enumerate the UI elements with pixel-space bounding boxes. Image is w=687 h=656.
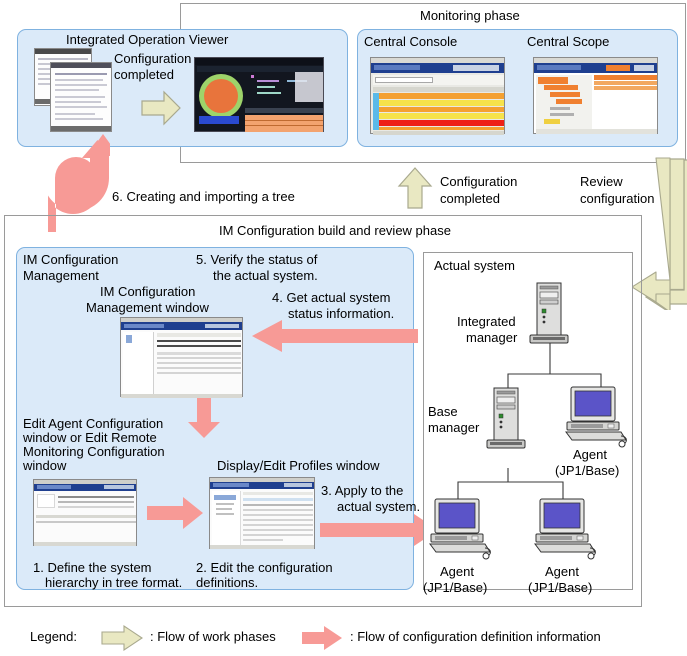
review-configuration-line1: Review bbox=[580, 175, 623, 189]
agent-bottom-right-icon bbox=[533, 498, 601, 560]
central-console-screenshot bbox=[370, 57, 505, 134]
viewer-flow-label-line1: Configuration bbox=[114, 52, 191, 66]
legend-config-info-arrow-icon bbox=[300, 624, 344, 652]
im-config-mgmt-window-line2: Management window bbox=[86, 301, 209, 315]
step6-label: 6. Creating and importing a tree bbox=[112, 190, 295, 204]
monitoring-phase-title: Monitoring phase bbox=[420, 9, 520, 23]
agent-right-line2: (JP1/Base) bbox=[555, 464, 619, 478]
base-manager-icon bbox=[485, 386, 527, 452]
legend-config-info-text: : Flow of configuration definition infor… bbox=[350, 630, 601, 644]
step1-line1: 1. Define the system bbox=[33, 561, 152, 575]
step1-to-step2-arrow-icon bbox=[145, 495, 205, 531]
agent-right-icon bbox=[564, 386, 632, 448]
central-scope-label: Central Scope bbox=[527, 35, 609, 49]
legend-label: Legend: bbox=[30, 630, 77, 644]
base-manager-line2: manager bbox=[428, 421, 479, 435]
agent-bottom-left-line1: Agent bbox=[440, 565, 474, 579]
edit-window-line3: Monitoring Configuration bbox=[23, 445, 165, 459]
integrated-manager-icon bbox=[528, 281, 570, 347]
config-completed-arrow-icon bbox=[397, 166, 433, 210]
edit-window-line4: window bbox=[23, 459, 66, 473]
step3-line1: 3. Apply to the bbox=[321, 484, 403, 498]
im-config-down-arrow-icon bbox=[186, 396, 222, 440]
central-console-label: Central Console bbox=[364, 35, 457, 49]
step3-arrow-icon bbox=[318, 512, 440, 548]
integrated-manager-line1: Integrated bbox=[457, 315, 516, 329]
im-config-mgmt-window-line1: IM Configuration bbox=[100, 285, 195, 299]
display-edit-profiles-window-screenshot bbox=[209, 477, 315, 549]
profiles-window-label: Display/Edit Profiles window bbox=[217, 459, 380, 473]
im-config-management-line1: IM Configuration bbox=[23, 253, 118, 267]
step5-line2: the actual system. bbox=[213, 269, 318, 283]
agent-bottom-left-icon bbox=[428, 498, 496, 560]
agent-bottom-right-line1: Agent bbox=[545, 565, 579, 579]
step1-line2: hierarchy in tree format. bbox=[45, 576, 182, 590]
agent-bottom-left-line2: (JP1/Base) bbox=[423, 581, 487, 595]
base-manager-line1: Base bbox=[428, 405, 458, 419]
viewer-flow-arrow-icon bbox=[140, 90, 182, 126]
central-scope-screenshot bbox=[533, 57, 658, 134]
integrated-operation-viewer-screenshot bbox=[194, 57, 324, 132]
agent-bottom-right-line2: (JP1/Base) bbox=[528, 581, 592, 595]
edit-agent-configuration-window-screenshot bbox=[33, 479, 137, 546]
legend-work-phase-text: : Flow of work phases bbox=[150, 630, 276, 644]
legend-work-phase-arrow-icon bbox=[100, 624, 144, 652]
integrated-operation-viewer-title: Integrated Operation Viewer bbox=[66, 33, 228, 47]
viewer-doc-screenshot-front bbox=[50, 62, 112, 132]
build-review-phase-title: IM Configuration build and review phase bbox=[219, 224, 451, 238]
agent-right-line1: Agent bbox=[573, 448, 607, 462]
viewer-flow-label-line2: completed bbox=[114, 68, 174, 82]
im-config-management-line2: Management bbox=[23, 269, 99, 283]
integrated-manager-line2: manager bbox=[466, 331, 517, 345]
step2-line1: 2. Edit the configuration bbox=[196, 561, 333, 575]
step5-line1: 5. Verify the status of bbox=[196, 253, 317, 267]
step4-line1: 4. Get actual system bbox=[272, 291, 391, 305]
im-config-management-window-screenshot bbox=[120, 317, 243, 397]
diagram-root: Monitoring phase Integrated Operation Vi… bbox=[0, 0, 687, 656]
edit-window-line2: window or Edit Remote bbox=[23, 431, 157, 445]
step2-line2: definitions. bbox=[196, 576, 258, 590]
step4-arrow-icon bbox=[250, 318, 420, 354]
edit-window-line1: Edit Agent Configuration bbox=[23, 417, 163, 431]
config-completed-line2: completed bbox=[440, 192, 500, 206]
config-completed-line1: Configuration bbox=[440, 175, 517, 189]
